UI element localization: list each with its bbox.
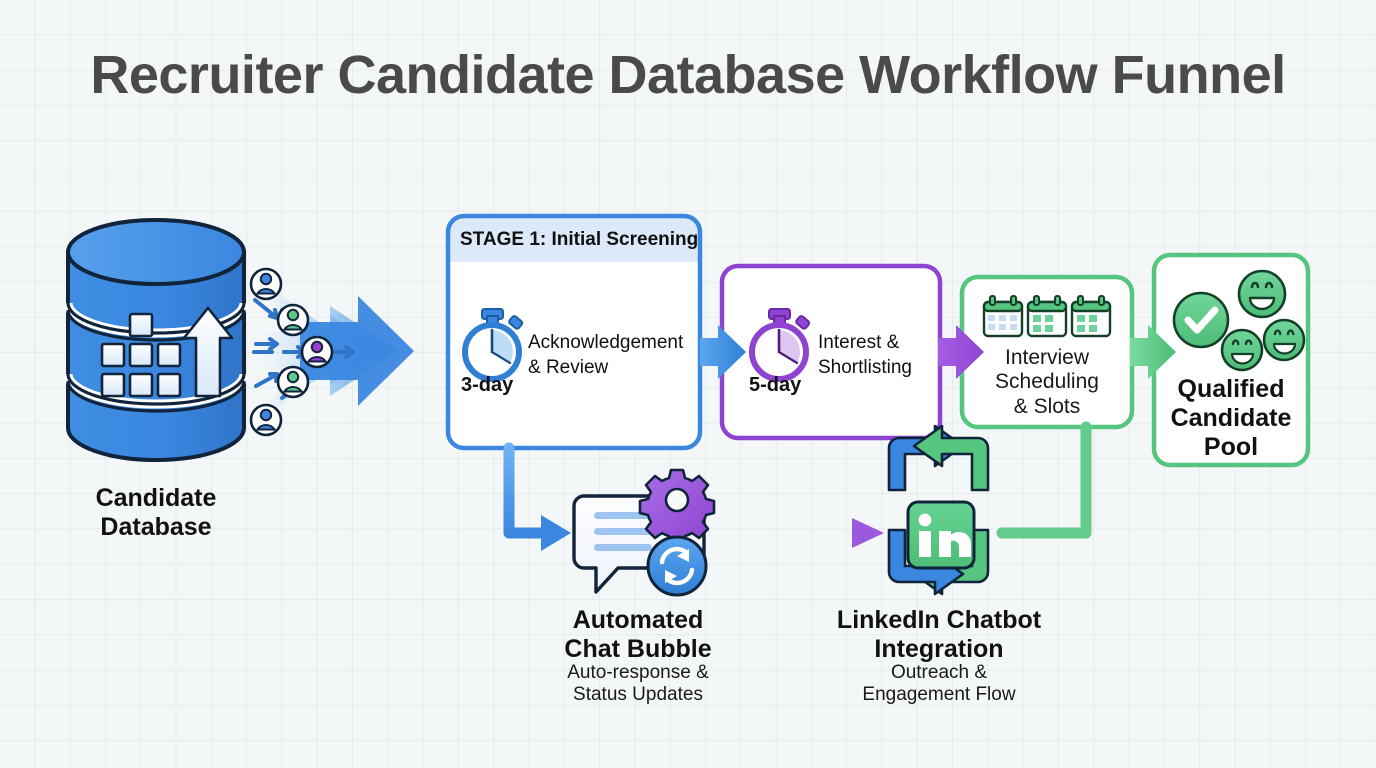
stage-4-text: Qualified Candidate Pool (1154, 375, 1308, 462)
automated-chat-bubble-title: Automated Chat Bubble (528, 606, 748, 664)
database-cylinder-icon (68, 220, 244, 460)
candidate-funnel-arrow (251, 269, 414, 435)
stage-1-text: Acknowledgement & Review (528, 331, 688, 380)
calendar-icons (984, 296, 1110, 336)
automated-chat-bubble-subtitle: Auto-response & Status Updates (528, 662, 748, 706)
linkedin-chatbot-subtitle: Outreach & Engagement Flow (828, 662, 1050, 706)
stage-1-duration: 3-day (461, 374, 513, 397)
connector-chat-to-linkedin (718, 518, 884, 548)
linkedin-chatbot-title: LinkedIn Chatbot Integration (828, 606, 1050, 664)
connector-linkedin-up-to-stage3 (1002, 427, 1086, 533)
stage-2-text: Interest & Shortlisting (818, 331, 948, 380)
linkedin-cycle-icon (889, 426, 988, 594)
chat-bubble-gear-sync-icon (574, 470, 714, 595)
connector-stage1-down-to-chat (509, 448, 571, 551)
candidate-database-label: Candidate Database (56, 484, 256, 542)
diagram-canvas: Recruiter Candidate Database Workflow Fu… (0, 0, 1376, 768)
stage-1-header: STAGE 1: Initial Screening (460, 229, 698, 251)
stage-3-text: Interview Scheduling & Slots (962, 346, 1132, 419)
stage-2-duration: 5-day (749, 374, 801, 397)
